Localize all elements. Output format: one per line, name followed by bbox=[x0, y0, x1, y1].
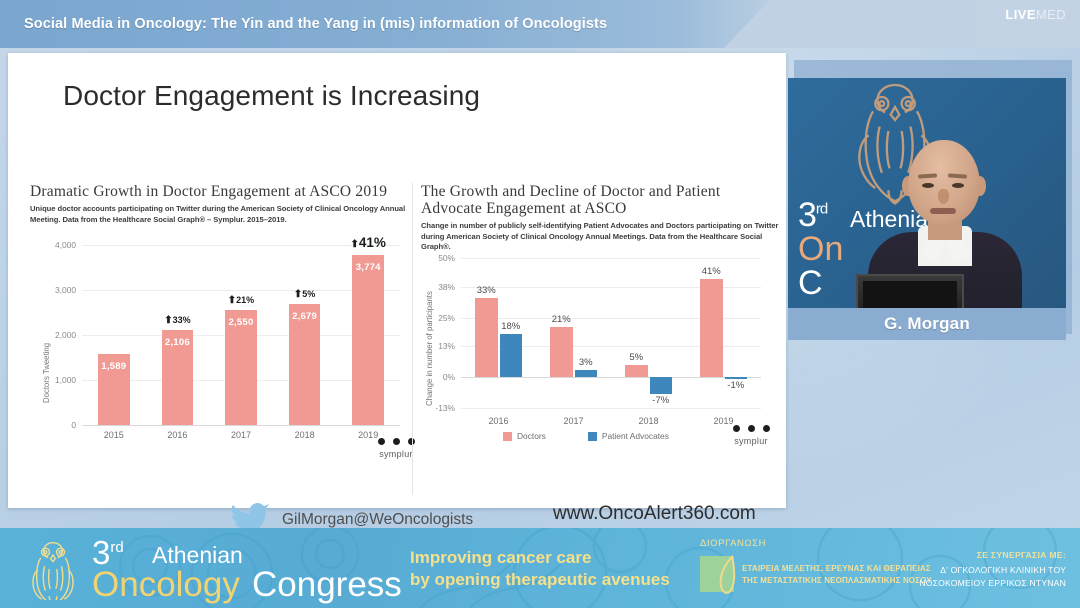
bar-value-label: 2,550 bbox=[225, 317, 257, 328]
gridline bbox=[461, 377, 761, 378]
banner-society-line2: ΤΗΣ ΜΕΤΑΣΤΑΤΙΚΗΣ ΝΕΟΠΛΑΣΜΑΤΙΚΗΣ ΝΟΣΟΥ bbox=[742, 576, 932, 585]
bar-value-label: 3,774 bbox=[352, 262, 384, 273]
banner-cooperation-line2: ΝΟΣΟΚΟΜΕΙΟΥ ΕΡΡΙΚΟΣ ΝΤΥΝΑΝ bbox=[919, 578, 1066, 588]
y-axis-tick: 38% bbox=[438, 282, 455, 292]
speaker-eye-left bbox=[922, 183, 934, 188]
y-axis-tick: 13% bbox=[438, 341, 455, 351]
top-header-bar: Social Media in Oncology: The Yin and th… bbox=[0, 0, 1080, 48]
left-chart-subtitle: Unique doctor accounts participating on … bbox=[30, 204, 408, 225]
banner-organizer-label: ΔΙΟΡΓΑΝΩΣΗ bbox=[700, 538, 766, 549]
right-chart-legend: Doctors Patient Advocates bbox=[503, 431, 669, 441]
conference-footer-banner: 3rd Athenian Oncology Congress Improving… bbox=[0, 528, 1080, 608]
bar-2018-doctors bbox=[625, 365, 648, 377]
x-axis-tick: 2017 bbox=[231, 430, 251, 440]
right-chart-panel: The Growth and Decline of Doctor and Pat… bbox=[412, 183, 780, 495]
x-axis-tick: 2016 bbox=[167, 430, 187, 440]
legend-label-doctors: Doctors bbox=[517, 431, 546, 441]
bar-value-label: 21% bbox=[542, 314, 581, 325]
bar-value-label: 33% bbox=[467, 285, 506, 296]
left-chart-y-axis-label: Doctors Tweeting bbox=[42, 343, 51, 403]
right-chart-subtitle: Change in number of publicly self-identi… bbox=[421, 221, 780, 253]
bar-value-label: 18% bbox=[492, 321, 531, 332]
bar-2015: 1,589 bbox=[98, 354, 130, 426]
owl-logo-icon bbox=[24, 538, 82, 600]
bar-2016: 2,106 bbox=[162, 330, 194, 425]
legend-swatch-patient-advocates bbox=[588, 432, 597, 441]
left-chart-plot-area: Doctors Tweeting 01,0002,0003,0004,0001,… bbox=[82, 245, 400, 425]
left-chart-panel: Dramatic Growth in Doctor Engagement at … bbox=[30, 183, 408, 495]
banner-congress: Congress bbox=[252, 565, 402, 605]
bar-value-label: 5% bbox=[617, 352, 656, 363]
slide-title: Doctor Engagement is Increasing bbox=[63, 80, 480, 112]
presentation-stage: Doctor Engagement is Increasing Dramatic… bbox=[0, 48, 1080, 528]
banner-society-line1: ΕΤΑΙΡΕΙΑ ΜΕΛΕΤΗΣ, ΕΡΕΥΝΑΣ ΚΑΙ ΘΕΡΑΠΕΙΑΣ bbox=[742, 564, 931, 573]
video-feed[interactable]: 3rd Athenian On C bbox=[788, 78, 1066, 308]
y-axis-tick: 0% bbox=[443, 372, 455, 382]
legend-item-patient-advocates: Patient Advocates bbox=[588, 431, 669, 441]
bar-value-label: 3% bbox=[567, 357, 606, 368]
x-axis-tick: 2016 bbox=[488, 416, 508, 426]
laptop-on-podium bbox=[856, 274, 964, 308]
twitter-bird-icon bbox=[230, 503, 270, 528]
y-axis-tick: 50% bbox=[438, 253, 455, 263]
y-axis-tick: 2,000 bbox=[55, 330, 76, 340]
banner-tagline-line1: Improving cancer care bbox=[410, 548, 591, 568]
y-axis-tick: 1,000 bbox=[55, 375, 76, 385]
speaker-mouth bbox=[930, 208, 956, 214]
speaker-name-bar: G. Morgan bbox=[788, 308, 1066, 340]
presentation-title: Social Media in Oncology: The Yin and th… bbox=[24, 0, 607, 48]
left-chart-title: Dramatic Growth in Doctor Engagement at … bbox=[30, 183, 408, 200]
bar-2019-patient-advocates bbox=[725, 377, 748, 379]
speaker-eye-right bbox=[952, 183, 964, 188]
bar-2017-doctors bbox=[550, 327, 573, 377]
bar-delta-label: ⬆41% bbox=[336, 235, 400, 250]
right-chart-title: The Growth and Decline of Doctor and Pat… bbox=[421, 183, 780, 217]
x-axis-tick: 2018 bbox=[295, 430, 315, 440]
bar-2019: 3,774 bbox=[352, 255, 384, 425]
speaker-name: G. Morgan bbox=[884, 314, 970, 334]
legend-label-patient-advocates: Patient Advocates bbox=[602, 431, 669, 441]
banner-cooperation-label: ΣΕ ΣΥΝΕΡΓΑΣΙΑ ΜΕ: bbox=[977, 550, 1066, 560]
y-axis-tick: 4,000 bbox=[55, 240, 76, 250]
website-url-text: www.OncoAlert360.com bbox=[553, 503, 756, 525]
x-axis-tick: 2015 bbox=[104, 430, 124, 440]
symplur-dots-icon bbox=[721, 425, 781, 432]
right-chart-symplur-brand: symplur bbox=[721, 425, 781, 446]
speaker-nose bbox=[938, 189, 949, 204]
bar-value-label: 41% bbox=[692, 266, 731, 277]
bar-2016-doctors bbox=[475, 298, 498, 377]
bar-delta-label: ⬆33% bbox=[146, 315, 210, 326]
video-backdrop-congress: C bbox=[798, 264, 823, 303]
bar-delta-label: ⬆5% bbox=[273, 289, 337, 300]
slide-canvas: Doctor Engagement is Increasing Dramatic… bbox=[8, 53, 786, 508]
gridline bbox=[82, 425, 400, 426]
bar-2016-patient-advocates bbox=[500, 334, 523, 377]
bar-value-label: 2,679 bbox=[289, 311, 321, 322]
bar-value-label: 2,106 bbox=[162, 337, 194, 348]
bar-value-label: -1% bbox=[717, 380, 756, 391]
symplur-wordmark: symplur bbox=[721, 436, 781, 446]
livemed-logo-light: MED bbox=[1036, 7, 1066, 22]
y-axis-tick: 0 bbox=[71, 420, 76, 430]
twitter-contact-row: GilMorgan@WeOncologists bbox=[230, 503, 473, 528]
banner-tagline-line2: by opening therapeutic avenues bbox=[410, 570, 670, 590]
bar-2017: 2,550 bbox=[225, 310, 257, 425]
x-axis-tick: 2017 bbox=[563, 416, 583, 426]
legend-swatch-doctors bbox=[503, 432, 512, 441]
society-leaf-icon bbox=[716, 555, 738, 595]
banner-oncology: Oncology bbox=[92, 565, 240, 605]
twitter-handle-text: GilMorgan@WeOncologists bbox=[282, 511, 473, 528]
y-axis-tick: 3,000 bbox=[55, 285, 76, 295]
x-axis-tick: 2018 bbox=[638, 416, 658, 426]
y-axis-tick: -13% bbox=[435, 403, 455, 413]
legend-item-doctors: Doctors bbox=[503, 431, 546, 441]
y-axis-tick: 25% bbox=[438, 313, 455, 323]
gridline bbox=[461, 258, 761, 259]
speaker-video-panel[interactable]: 3rd Athenian On C bbox=[788, 62, 1072, 338]
bar-2019-doctors bbox=[700, 279, 723, 377]
bar-value-label: -7% bbox=[642, 395, 681, 406]
bar-delta-label: ⬆21% bbox=[209, 295, 273, 306]
right-chart-plot-area: Change in number of participants -13%0%1… bbox=[461, 258, 761, 408]
bar-2017-patient-advocates bbox=[575, 370, 598, 377]
livemed-logo-bold: LIVE bbox=[1005, 7, 1036, 22]
gridline bbox=[461, 408, 761, 409]
bar-value-label: 1,589 bbox=[98, 361, 130, 372]
right-chart-y-axis-label: Change in number of participants bbox=[425, 291, 434, 406]
banner-cooperation-line1: Δ' ΟΓΚΟΛΟΓΙΚΗ ΚΛΙΝΙΚΗ ΤΟΥ bbox=[940, 565, 1066, 575]
bar-2018: 2,679 bbox=[289, 304, 321, 425]
livemed-logo: LIVEMED bbox=[1005, 7, 1066, 22]
laptop-screen bbox=[863, 281, 957, 308]
bar-2018-patient-advocates bbox=[650, 377, 673, 394]
